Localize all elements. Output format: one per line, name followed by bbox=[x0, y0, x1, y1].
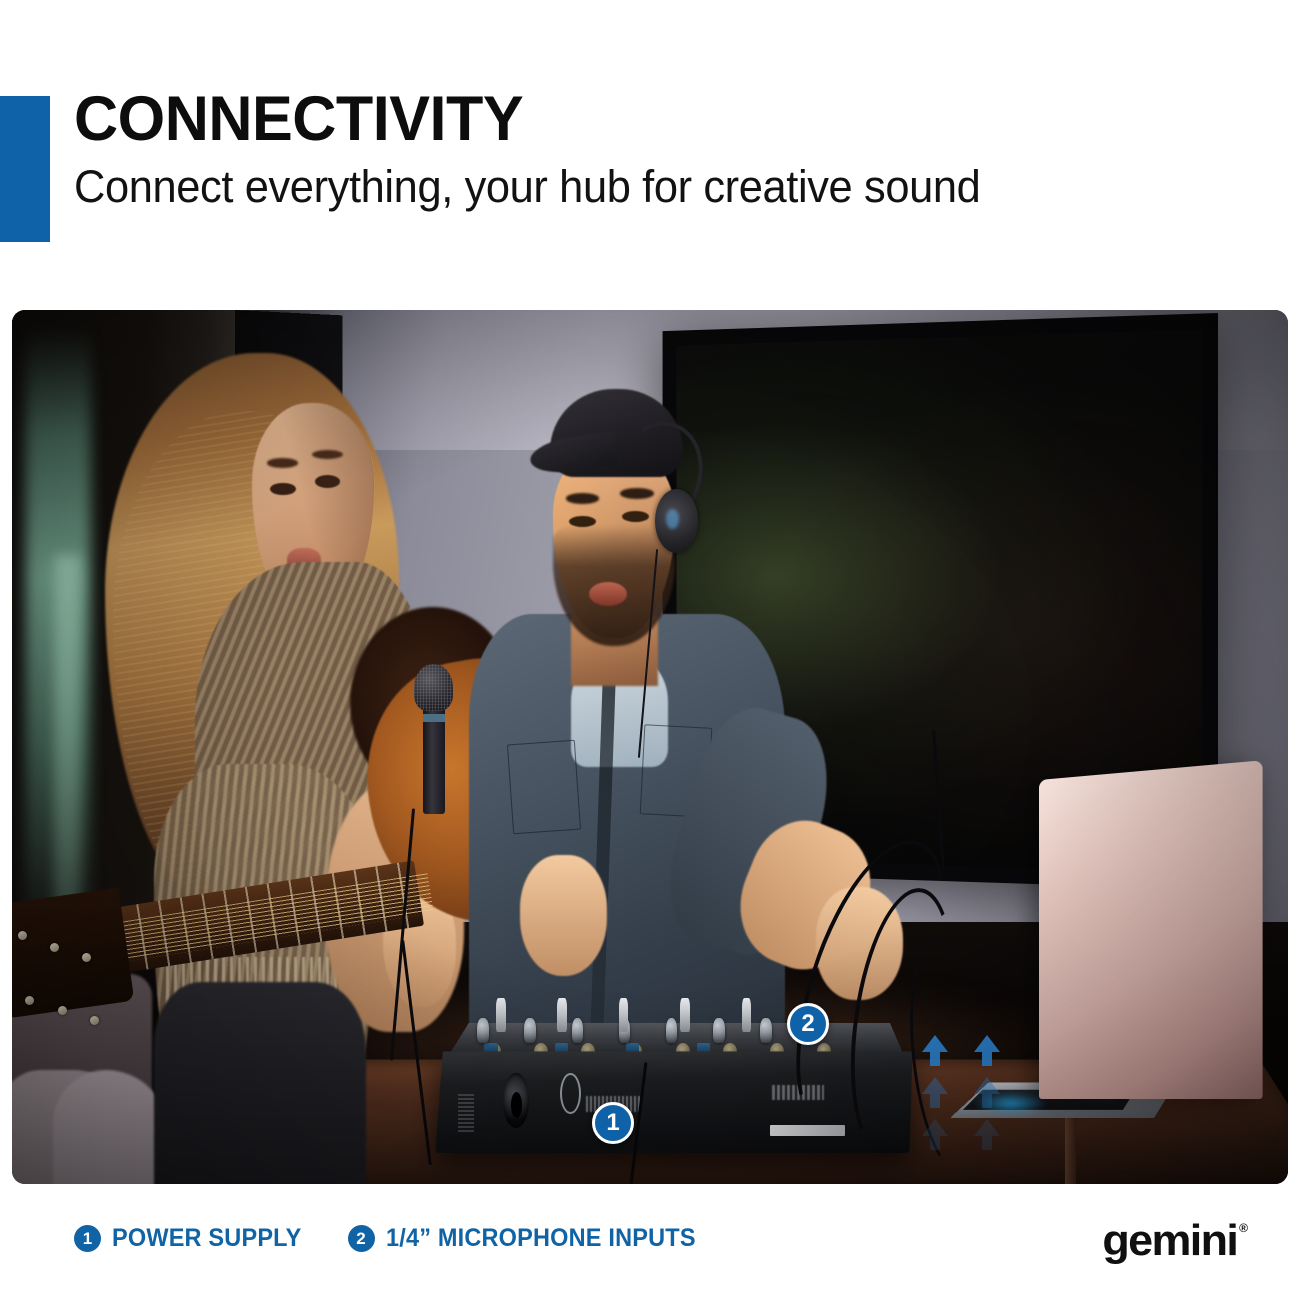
mixer-knob bbox=[760, 1018, 771, 1044]
arrow-up-icon bbox=[974, 1119, 1000, 1136]
mixer-fader bbox=[680, 998, 689, 1031]
brand-wordmark: gemini bbox=[1102, 1219, 1237, 1263]
microphone-grille bbox=[414, 664, 454, 711]
title-block: CONNECTIVITY Connect everything, your hu… bbox=[74, 86, 1254, 213]
legend-item-microphone-inputs: 2 1/4” MICROPHONE INPUTS bbox=[348, 1224, 715, 1253]
legend-label-microphone-inputs: 1/4” MICROPHONE INPUTS bbox=[386, 1224, 696, 1253]
mixer-knob bbox=[524, 1018, 535, 1044]
legend-label-power-supply: POWER SUPPLY bbox=[112, 1224, 301, 1253]
callout-badge-2[interactable]: 2 bbox=[787, 1003, 829, 1045]
woman-eyebrow-left bbox=[267, 458, 298, 467]
laptop-lid bbox=[1039, 760, 1262, 1099]
mixer-knob bbox=[572, 1018, 583, 1044]
legend: 1 POWER SUPPLY 2 1/4” MICROPHONE INPUTS bbox=[74, 1216, 715, 1260]
page-header: CONNECTIVITY Connect everything, your hu… bbox=[0, 0, 1300, 300]
man-lips bbox=[589, 582, 627, 606]
arrow-up-icon bbox=[922, 1035, 948, 1052]
mixer-fader bbox=[496, 998, 505, 1031]
guitar-tuning-peg bbox=[25, 996, 34, 1005]
mixer-vent bbox=[458, 1092, 474, 1131]
microphone-accent-ring bbox=[423, 714, 445, 722]
page-subtitle: Connect everything, your hub for creativ… bbox=[74, 162, 1213, 212]
mixer-knob bbox=[477, 1018, 488, 1044]
woman-eye-left bbox=[270, 483, 295, 496]
guitar-tuning-peg bbox=[18, 931, 27, 940]
guitar-tuning-peg bbox=[50, 943, 59, 952]
arrow-up-icon bbox=[922, 1119, 948, 1136]
mixer-knob bbox=[713, 1018, 724, 1044]
headphones-earcup-highlight bbox=[666, 509, 679, 528]
arrow-up-icon bbox=[974, 1077, 1000, 1094]
legend-badge-2: 2 bbox=[348, 1225, 375, 1252]
arrow-up-icon bbox=[922, 1077, 948, 1094]
man-eyebrow-left bbox=[566, 493, 600, 503]
registered-trademark-icon: ® bbox=[1239, 1221, 1248, 1235]
mixer-power-jack-hole bbox=[511, 1092, 522, 1118]
guitar-tuning-peg bbox=[90, 1016, 99, 1025]
photo-scene bbox=[12, 310, 1288, 1184]
mixer-fader bbox=[557, 998, 566, 1031]
brand-logo: gemini ® bbox=[1105, 1219, 1248, 1263]
mixer-knob bbox=[666, 1018, 677, 1044]
arrow-up-icon bbox=[974, 1035, 1000, 1052]
legend-item-power-supply: 1 POWER SUPPLY bbox=[74, 1224, 314, 1253]
guitar-tuning-peg bbox=[58, 1006, 67, 1015]
mixer-fader bbox=[619, 998, 628, 1031]
callout-badge-1[interactable]: 1 bbox=[592, 1102, 634, 1144]
page-title: CONNECTIVITY bbox=[74, 86, 1219, 152]
mixer-power-button bbox=[560, 1073, 581, 1114]
mixer-fader bbox=[742, 998, 751, 1031]
accent-bar bbox=[0, 96, 50, 242]
legend-badge-1: 1 bbox=[74, 1225, 101, 1252]
woman-lower-body bbox=[154, 982, 366, 1184]
signal-flow-arrows bbox=[974, 1035, 1004, 1153]
product-lifestyle-photo bbox=[12, 310, 1288, 1184]
signal-flow-arrows bbox=[922, 1035, 952, 1153]
woman-eye-right bbox=[315, 475, 340, 488]
man-shirt-pocket-left bbox=[507, 740, 581, 835]
